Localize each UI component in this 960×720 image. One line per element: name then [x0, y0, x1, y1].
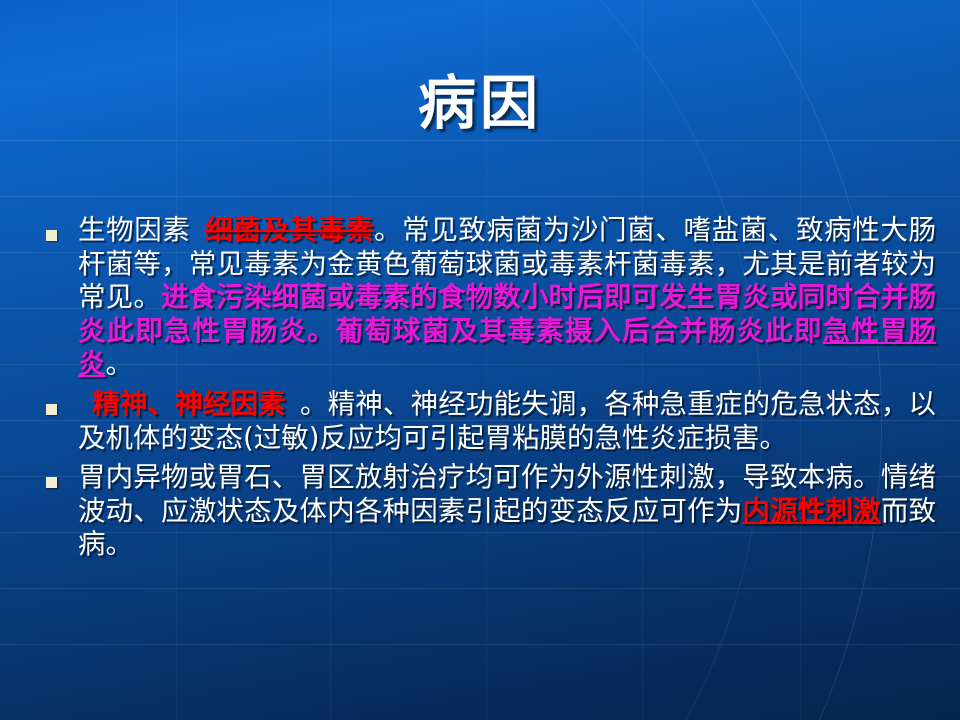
bullet-text: 生物因素细菌及其毒素。常见致病菌为沙门菌、嗜盐菌、致病性大肠杆菌等，常见毒素为金… — [78, 214, 936, 382]
text-segment: 。 — [106, 348, 134, 380]
text-segment: 精神、神经因素 — [92, 388, 286, 420]
slide-body: 生物因素细菌及其毒素。常见致病菌为沙门菌、嗜盐菌、致病性大肠杆菌等，常见毒素为金… — [46, 214, 936, 568]
text-segment: 细菌及其毒素 — [205, 214, 374, 246]
bullet-item: 精神、神经因素。精神、神经功能失调，各种急重症的危急状态，以及机体的变态(过敏)… — [46, 388, 936, 455]
background-hline — [0, 196, 960, 197]
bullet-text: 精神、神经因素。精神、神经功能失调，各种急重症的危急状态，以及机体的变态(过敏)… — [78, 388, 936, 455]
bullet-text: 胃内异物或胃石、胃区放射治疗均可作为外源性刺激，导致本病。情绪波动、应激状态及体… — [78, 461, 936, 562]
text-segment: 内源性刺激 — [742, 495, 880, 527]
bullet-item: 胃内异物或胃石、胃区放射治疗均可作为外源性刺激，导致本病。情绪波动、应激状态及体… — [46, 461, 936, 562]
text-segment: 进食污染细菌或毒素的食物数小时后即可发生胃炎或同时合并肠炎此即急性胃肠炎。葡萄球… — [78, 281, 936, 347]
presentation-slide: 病因 生物因素细菌及其毒素。常见致病菌为沙门菌、嗜盐菌、致病性大肠杆菌等，常见毒… — [0, 0, 960, 720]
bullet-square-icon — [46, 230, 57, 241]
bullet-square-icon — [46, 404, 57, 415]
bullet-square-icon — [46, 477, 57, 488]
background-hline — [0, 140, 960, 141]
slide-title: 病因 — [0, 74, 960, 132]
bullet-item: 生物因素细菌及其毒素。常见致病菌为沙门菌、嗜盐菌、致病性大肠杆菌等，常见毒素为金… — [46, 214, 936, 382]
background-hline — [0, 644, 960, 645]
background-hline — [0, 588, 960, 589]
text-segment: 生物因素 — [78, 214, 191, 246]
